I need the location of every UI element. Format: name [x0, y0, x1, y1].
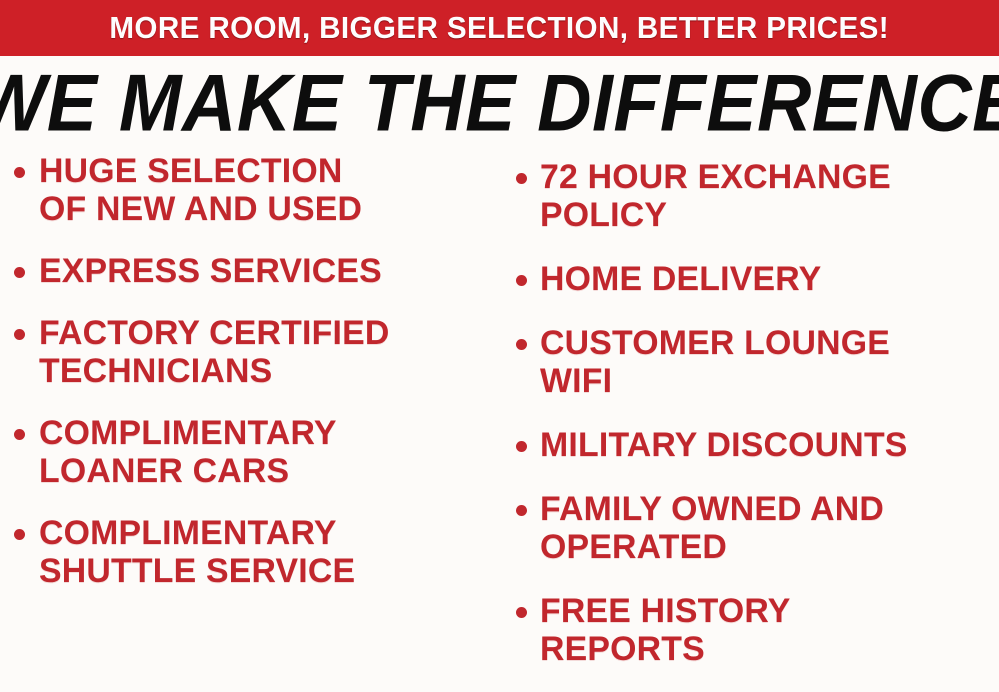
bullet-dot-icon	[14, 529, 25, 540]
list-item: COMPLIMENTARY LOANER CARS	[14, 414, 508, 490]
bullet-dot-icon	[516, 275, 527, 286]
list-item-label: FAMILY OWNED AND OPERATED	[540, 490, 884, 566]
promo-banner-text: MORE ROOM, BIGGER SELECTION, BETTER PRIC…	[110, 12, 890, 45]
list-item-label: FREE HISTORY REPORTS	[540, 592, 791, 668]
list-item-label: CUSTOMER LOUNGE WIFI	[540, 324, 890, 400]
list-item: 72 HOUR EXCHANGE POLICY	[516, 158, 999, 234]
bullet-dot-icon	[14, 167, 25, 178]
promo-banner: MORE ROOM, BIGGER SELECTION, BETTER PRIC…	[0, 0, 999, 56]
bullet-dot-icon	[14, 329, 25, 340]
list-item-label: EXPRESS SERVICES	[39, 252, 382, 290]
list-item-label: HUGE SELECTION OF NEW AND USED	[39, 152, 362, 228]
features-columns: HUGE SELECTION OF NEW AND USED EXPRESS S…	[0, 152, 999, 692]
list-item: EXPRESS SERVICES	[14, 252, 508, 290]
list-item-label: COMPLIMENTARY SHUTTLE SERVICE	[39, 514, 355, 590]
list-item: FACTORY CERTIFIED TECHNICIANS	[14, 314, 508, 390]
bullet-dot-icon	[516, 173, 527, 184]
list-item: CUSTOMER LOUNGE WIFI	[516, 324, 999, 400]
list-item: HUGE SELECTION OF NEW AND USED	[14, 152, 508, 228]
list-item-label: 72 HOUR EXCHANGE POLICY	[540, 158, 891, 234]
list-item: HOME DELIVERY	[516, 260, 999, 298]
headline-container: WE MAKE THE DIFFERENCE	[0, 63, 999, 145]
bullet-dot-icon	[14, 267, 25, 278]
list-item: COMPLIMENTARY SHUTTLE SERVICE	[14, 514, 508, 590]
features-right-column: 72 HOUR EXCHANGE POLICY HOME DELIVERY CU…	[516, 158, 999, 692]
list-item-label: COMPLIMENTARY LOANER CARS	[39, 414, 337, 490]
list-item-label: HOME DELIVERY	[540, 260, 821, 298]
page-title: WE MAKE THE DIFFERENCE	[0, 64, 999, 145]
advertisement-poster: MORE ROOM, BIGGER SELECTION, BETTER PRIC…	[0, 0, 999, 692]
features-left-column: HUGE SELECTION OF NEW AND USED EXPRESS S…	[14, 152, 508, 614]
list-item: FAMILY OWNED AND OPERATED	[516, 490, 999, 566]
bullet-dot-icon	[516, 505, 527, 516]
list-item-label: FACTORY CERTIFIED TECHNICIANS	[39, 314, 389, 390]
list-item: FREE HISTORY REPORTS	[516, 592, 999, 668]
bullet-dot-icon	[14, 429, 25, 440]
bullet-dot-icon	[516, 607, 527, 618]
bullet-dot-icon	[516, 441, 527, 452]
bullet-dot-icon	[516, 339, 527, 350]
list-item: MILITARY DISCOUNTS	[516, 426, 999, 464]
list-item-label: MILITARY DISCOUNTS	[540, 426, 908, 464]
